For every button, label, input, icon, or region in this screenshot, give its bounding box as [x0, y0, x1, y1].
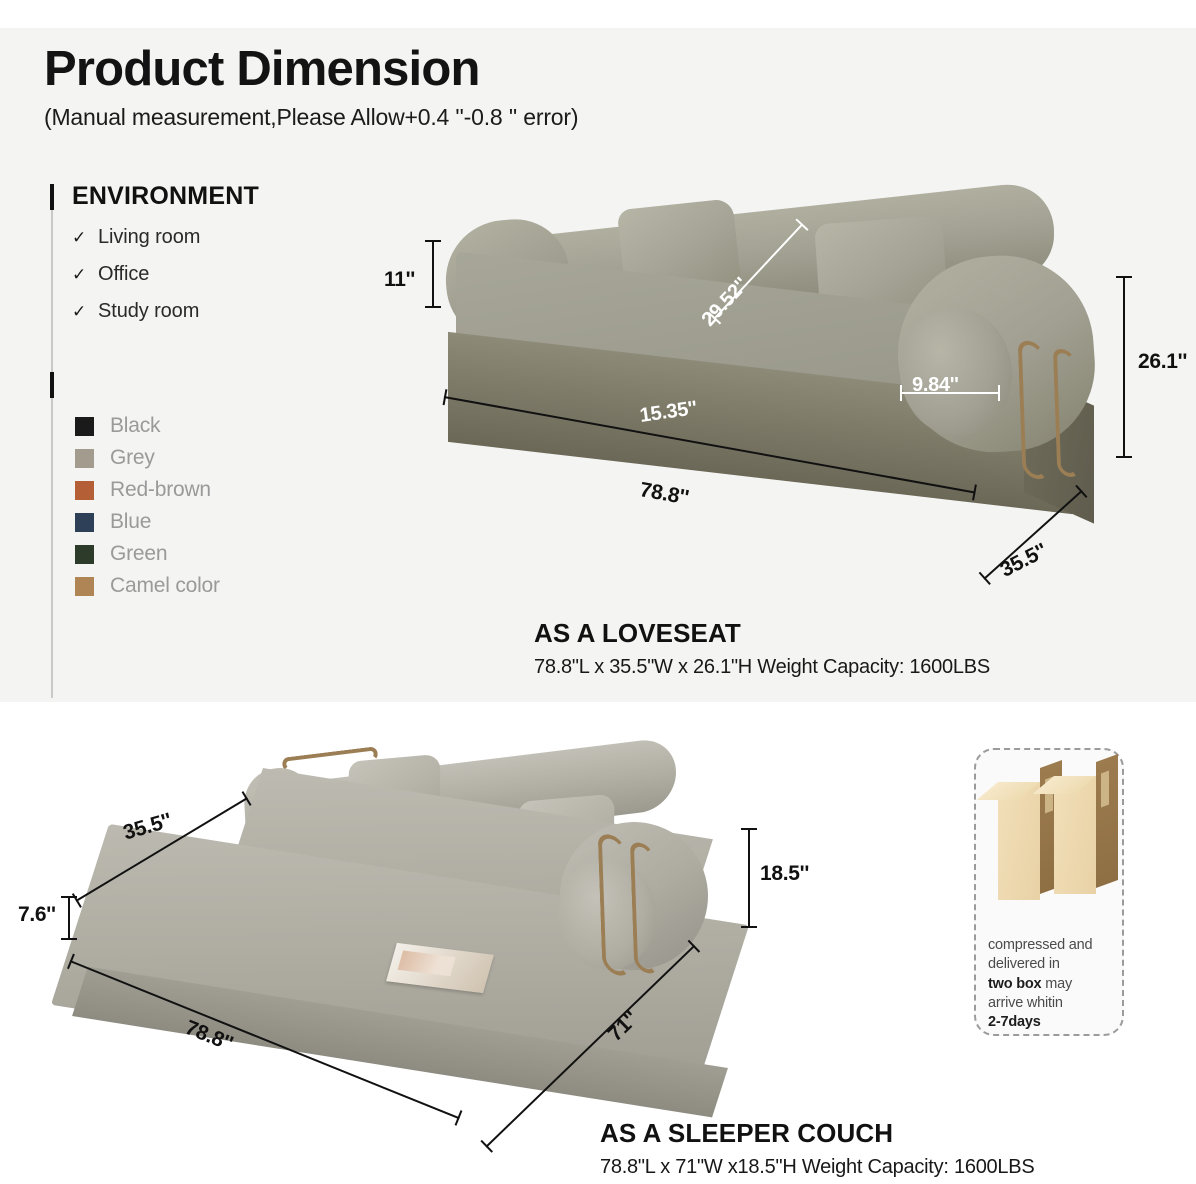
dimension-arm-height: 11''	[384, 268, 415, 292]
color-swatch	[75, 577, 94, 596]
environment-heading: ENVIRONMENT	[72, 182, 259, 211]
color-label: Grey	[110, 446, 155, 470]
color-option-red-brown: Red-brown	[75, 474, 220, 506]
loveseat-caption-title: AS A LOVESEAT	[534, 618, 990, 649]
shipping-note-text: compressed and delivered in two box may …	[988, 936, 1116, 1032]
shipping-line-1: compressed and	[988, 937, 1092, 953]
color-swatch	[75, 513, 94, 532]
shipping-line-4: arrive whitin	[988, 995, 1063, 1011]
dimension-arm-width: 9.84''	[912, 374, 959, 397]
environment-section: ENVIRONMENT ✓ Living room ✓ Office ✓ Stu…	[72, 182, 259, 322]
environment-item-label: Living room	[98, 226, 200, 249]
metal-handle-icon	[598, 831, 631, 980]
check-icon: ✓	[72, 229, 98, 246]
color-option-grey: Grey	[75, 442, 220, 474]
accent-tail	[51, 398, 53, 698]
accent-tail	[51, 210, 53, 386]
color-option-blue: Blue	[75, 506, 220, 538]
mattress-height-bracket	[68, 896, 70, 940]
box-tape	[1101, 771, 1109, 808]
page-subtitle: (Manual measurement,Please Allow+0.4 ''-…	[44, 104, 578, 131]
color-option-black: Black	[75, 410, 220, 442]
color-label: Blue	[110, 510, 151, 534]
loveseat-caption-sub: 78.8"L x 35.5"W x 26.1"H Weight Capacity…	[534, 656, 990, 679]
color-label: Red-brown	[110, 478, 211, 502]
page-title: Product Dimension	[44, 44, 578, 95]
arm-height-bracket	[432, 240, 434, 308]
back-height-bracket	[748, 828, 750, 928]
metal-handle-icon	[630, 839, 658, 976]
color-accent-rule	[50, 372, 54, 698]
loveseat-caption: AS A LOVESEAT 78.8"L x 35.5"W x 26.1"H W…	[534, 618, 990, 679]
color-swatch	[75, 417, 94, 436]
sleeper-caption: AS A SLEEPER COUCH 78.8"L x 71"W x18.5"H…	[600, 1118, 1035, 1179]
color-label: Black	[110, 414, 160, 438]
shipping-note: compressed and delivered in two box may …	[974, 748, 1124, 1036]
color-swatch	[75, 545, 94, 564]
shipping-bold-days: 2-7days	[988, 1014, 1041, 1030]
dimension-back-height: 18.5''	[760, 862, 809, 886]
color-swatch	[75, 449, 94, 468]
sleeper-illustration	[60, 740, 860, 1160]
color-swatch	[75, 481, 94, 500]
loveseat-illustration	[400, 190, 1160, 600]
environment-item-office: ✓ Office	[72, 263, 259, 285]
metal-handle-icon	[1053, 346, 1079, 479]
color-label: Camel color	[110, 574, 220, 598]
accent-cap	[50, 184, 54, 210]
color-option-green: Green	[75, 538, 220, 570]
shipping-line-2: delivered in	[988, 956, 1060, 972]
check-icon: ✓	[72, 303, 98, 320]
color-option-camel: Camel color	[75, 570, 220, 602]
overall-height-bracket	[1123, 276, 1125, 458]
header: Product Dimension (Manual measurement,Pl…	[44, 44, 578, 131]
dimension-overall-height: 26.1''	[1138, 350, 1187, 374]
color-label: Green	[110, 542, 167, 566]
environment-item-label: Office	[98, 263, 149, 286]
metal-handle-icon	[1018, 338, 1049, 482]
shipping-bold-two-box: two box	[988, 976, 1041, 992]
environment-accent-rule	[50, 184, 54, 386]
check-icon: ✓	[72, 266, 98, 283]
sleeper-caption-sub: 78.8"L x 71"W x18.5"H Weight Capacity: 1…	[600, 1156, 1035, 1179]
environment-item-label: Study room	[98, 300, 199, 323]
environment-item-study-room: ✓ Study room	[72, 300, 259, 322]
shipping-line-3: may	[1041, 976, 1072, 992]
color-options-list: Black Grey Red-brown Blue Green Camel co…	[75, 410, 220, 602]
sleeper-caption-title: AS A SLEEPER COUCH	[600, 1118, 1035, 1149]
dimension-mattress-height: 7.6''	[18, 903, 56, 927]
environment-item-living-room: ✓ Living room	[72, 226, 259, 248]
accent-cap	[50, 372, 54, 398]
shipping-boxes-illustration	[976, 750, 1126, 910]
